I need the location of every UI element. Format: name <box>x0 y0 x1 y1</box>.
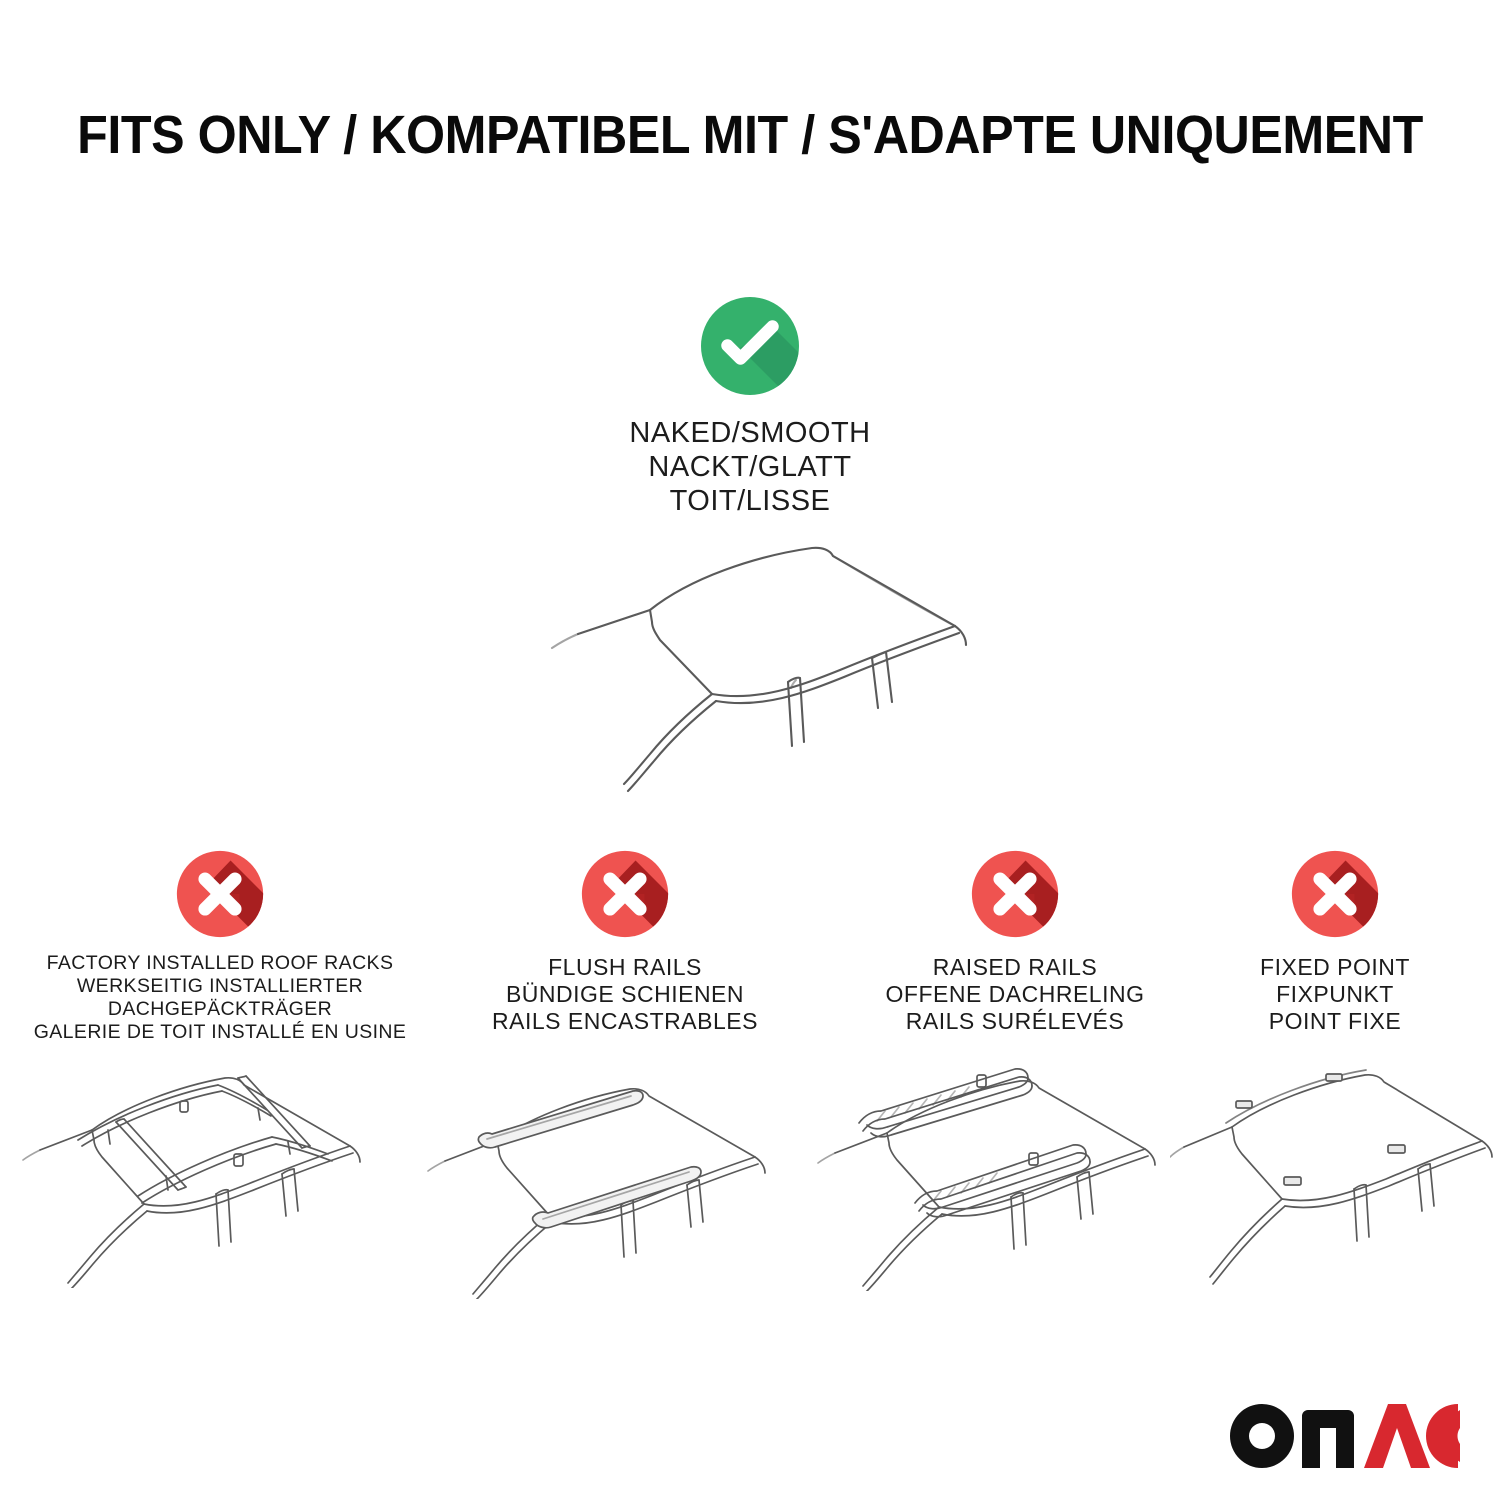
logo-letter-o <box>1230 1404 1294 1468</box>
car-roof-factory-rack-illustration <box>20 1058 420 1288</box>
caption-line: OFFENE DACHRELING <box>815 981 1215 1008</box>
car-roof-raised-rails-illustration <box>815 1061 1215 1291</box>
compatible-caption: NAKED/SMOOTH NACKT/GLATT TOIT/LISSE <box>500 416 1000 518</box>
caption-line: NACKT/GLATT <box>500 450 1000 484</box>
logo-letter-c <box>1426 1404 1460 1468</box>
page-title: FITS ONLY / KOMPATIBEL MIT / S'ADAPTE UN… <box>53 104 1448 166</box>
cross-circle-icon <box>1291 850 1379 938</box>
incompatible-column-factory-rack: FACTORY INSTALLED ROOF RACKS WERKSEITIG … <box>10 850 430 1288</box>
compatible-column: NAKED/SMOOTH NACKT/GLATT TOIT/LISSE <box>500 296 1000 800</box>
incompatible-caption: FLUSH RAILS BÜNDIGE SCHIENEN RAILS ENCAS… <box>425 954 825 1035</box>
car-roof-flush-rails-illustration <box>425 1069 825 1299</box>
caption-line: FIXED POINT <box>1170 954 1500 981</box>
logo-letter-a <box>1364 1404 1430 1468</box>
incompatible-column-flush-rails: FLUSH RAILS BÜNDIGE SCHIENEN RAILS ENCAS… <box>425 850 825 1299</box>
incompatible-caption: FACTORY INSTALLED ROOF RACKS WERKSEITIG … <box>10 952 430 1044</box>
cross-circle-icon <box>176 850 264 938</box>
omac-logo: OMAC <box>1224 1398 1460 1472</box>
caption-line: FIXPUNKT <box>1170 981 1500 1008</box>
check-circle-icon <box>700 296 800 396</box>
caption-line: TOIT/LISSE <box>500 484 1000 518</box>
cross-circle-icon <box>971 850 1059 938</box>
logo-letter-m <box>1302 1410 1354 1468</box>
caption-line: POINT FIXE <box>1170 1008 1500 1035</box>
caption-line: GALERIE DE TOIT INSTALLÉ EN USINE <box>10 1021 430 1044</box>
caption-line: DACHGEPÄCKTRÄGER <box>10 998 430 1021</box>
car-roof-naked-smooth-illustration <box>500 530 1000 800</box>
caption-line: RAILS ENCASTRABLES <box>425 1008 825 1035</box>
incompatible-column-fixed-point: FIXED POINT FIXPUNKT POINT FIXE <box>1170 850 1500 1291</box>
caption-line: WERKSEITIG INSTALLIERTER <box>10 975 430 998</box>
caption-line: BÜNDIGE SCHIENEN <box>425 981 825 1008</box>
caption-line: FLUSH RAILS <box>425 954 825 981</box>
incompatible-caption: FIXED POINT FIXPUNKT POINT FIXE <box>1170 954 1500 1035</box>
caption-line: FACTORY INSTALLED ROOF RACKS <box>10 952 430 975</box>
car-roof-fixed-point-illustration <box>1170 1061 1500 1291</box>
cross-circle-icon <box>581 850 669 938</box>
incompatible-caption: RAISED RAILS OFFENE DACHRELING RAILS SUR… <box>815 954 1215 1035</box>
incompatible-column-raised-rails: RAISED RAILS OFFENE DACHRELING RAILS SUR… <box>815 850 1215 1291</box>
omac-logo-mark: OMAC <box>1224 1398 1460 1472</box>
caption-line: RAISED RAILS <box>815 954 1215 981</box>
caption-line: NAKED/SMOOTH <box>500 416 1000 450</box>
caption-line: RAILS SURÉLEVÉS <box>815 1008 1215 1035</box>
